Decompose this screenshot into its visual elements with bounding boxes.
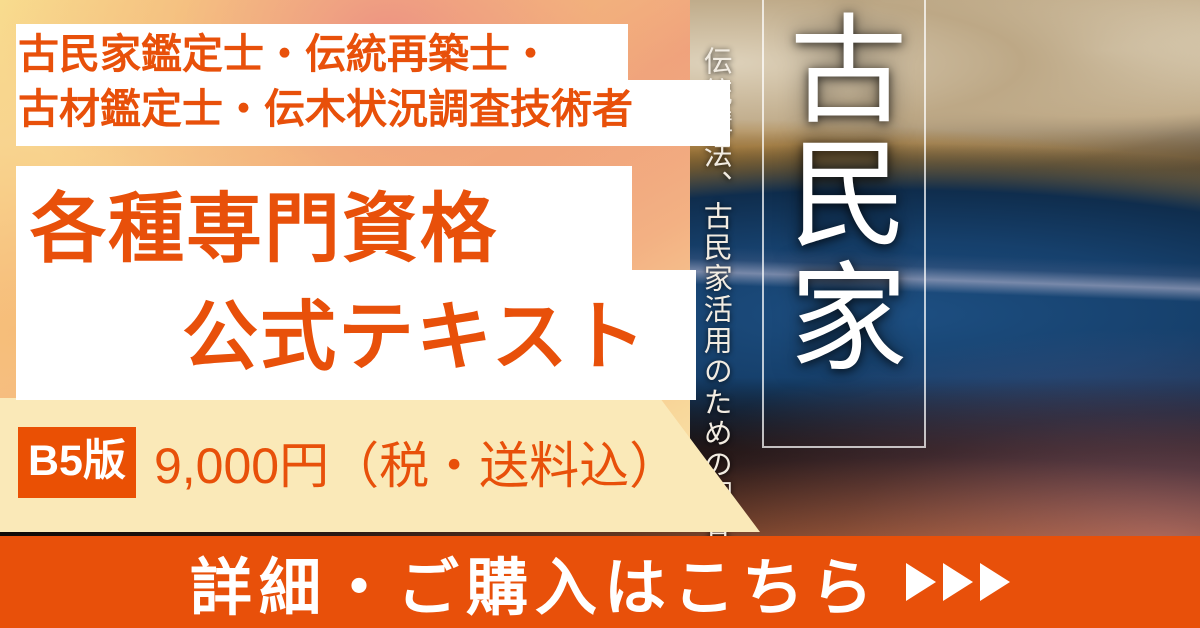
triple-chevron-right-icon <box>906 563 1010 601</box>
book-cover-title: 古民家 <box>782 8 902 380</box>
certification-line-1: 古民家鑑定士・伝統再築士・ <box>18 27 718 82</box>
cta-label: 詳細・ご購入はこちら <box>190 537 880 627</box>
price-text: 9,000円（税・送料込） <box>154 426 679 498</box>
main-headline: 各種専門資格 公式テキスト <box>18 176 688 392</box>
main-headline-line-1: 各種専門資格 <box>18 176 688 284</box>
arrow-right-icon-1 <box>906 563 936 601</box>
format-badge: B5版 <box>18 427 136 498</box>
cta-text: 詳細・ご購入はこちら <box>190 537 1010 627</box>
promo-banner: 伝統構法、古民家活用のための調査と再生の 古民家 古民家鑑定士・伝統再築士・ 古… <box>0 0 1200 628</box>
cta-bar[interactable]: 詳細・ご購入はこちら <box>0 536 1200 628</box>
arrow-right-icon-2 <box>943 563 973 601</box>
arrow-right-icon-3 <box>980 563 1010 601</box>
price-row: B5版 9,000円（税・送料込） <box>18 427 679 497</box>
main-headline-line-2: 公式テキスト <box>18 284 688 392</box>
certification-line-2: 古材鑑定士・伝木状況調査技術者 <box>18 82 718 137</box>
certifications-text: 古民家鑑定士・伝統再築士・ 古材鑑定士・伝木状況調査技術者 <box>18 27 718 137</box>
